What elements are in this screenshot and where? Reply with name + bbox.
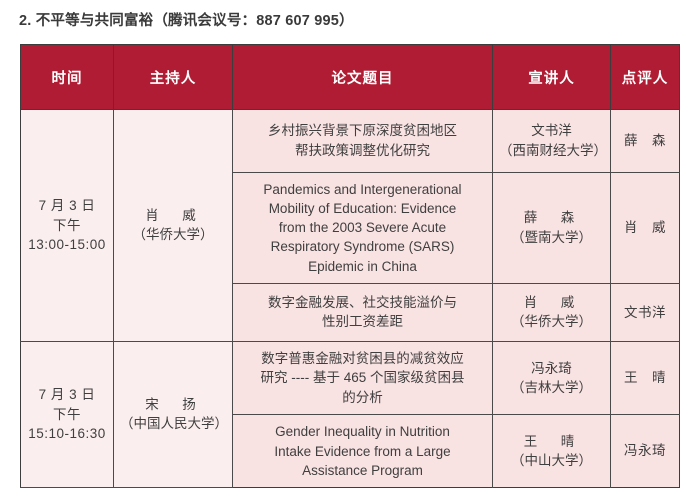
column-header-chair: 主持人 (114, 45, 233, 110)
presenter-affiliation: （西南财经大学） (499, 141, 604, 161)
presenter-affiliation: （暨南大学） (499, 228, 604, 248)
presenter-affiliation: （吉林大学） (499, 378, 604, 398)
table-header: 时间 主持人 论文题目 宣讲人 点评人 (21, 45, 680, 110)
session-period: 下午 (27, 216, 107, 236)
conference-schedule-table: 时间 主持人 论文题目 宣讲人 点评人 7 月 3 日 下午 13:00-15:… (20, 44, 680, 488)
table-row: 7 月 3 日 下午 15:10-16:30 宋 扬 （中国人民大学） 数字普惠… (21, 341, 680, 415)
session-time-range: 13:00-15:00 (27, 235, 107, 255)
presenter-cell: 薛 森 （暨南大学） (493, 173, 611, 284)
paper-title-cell: Pandemics and Intergenerational Mobility… (233, 173, 493, 284)
column-header-presenter: 宣讲人 (493, 45, 611, 110)
paper-title-line: Respiratory Syndrome (SARS) (243, 237, 482, 256)
presenter-affiliation: （中山大学） (499, 451, 604, 471)
chair-name: 肖 威 (120, 206, 226, 226)
paper-title-line: 性别工资差距 (243, 312, 482, 332)
paper-title-cell: 数字普惠金融对贫困县的减贫效应 研究 ---- 基于 465 个国家级贫困县 的… (233, 341, 493, 415)
paper-title-line: 的分析 (243, 388, 482, 408)
discussant-cell: 冯永琦 (611, 415, 680, 487)
table-body: 7 月 3 日 下午 13:00-15:00 肖 威 （华侨大学） 乡村振兴背景… (21, 110, 680, 488)
column-header-paper: 论文题目 (233, 45, 493, 110)
discussant-cell: 王 晴 (611, 341, 680, 415)
presenter-cell: 肖 威 （华侨大学） (493, 283, 611, 341)
presenter-affiliation: （华侨大学） (499, 312, 604, 332)
discussant-cell: 薛 森 (611, 110, 680, 173)
paper-title-line: 帮扶政策调整优化研究 (243, 141, 482, 161)
paper-title-line: Pandemics and Intergenerational (243, 180, 482, 199)
presenter-name: 薛 森 (499, 208, 604, 228)
paper-title-line: Gender Inequality in Nutrition (243, 422, 482, 441)
presenter-name: 冯永琦 (499, 359, 604, 379)
presenter-cell: 王 晴 （中山大学） (493, 415, 611, 487)
paper-title-cell: 数字金融发展、社交技能溢价与 性别工资差距 (233, 283, 493, 341)
table-row: 7 月 3 日 下午 13:00-15:00 肖 威 （华侨大学） 乡村振兴背景… (21, 110, 680, 173)
paper-title-line: Intake Evidence from a Large (243, 442, 482, 461)
paper-title-line: 研究 ---- 基于 465 个国家级贫困县 (243, 368, 482, 388)
session-time-cell: 7 月 3 日 下午 15:10-16:30 (21, 341, 114, 487)
session-period: 下午 (27, 405, 107, 425)
session-chair-cell: 肖 威 （华侨大学） (114, 110, 233, 342)
table-header-row: 时间 主持人 论文题目 宣讲人 点评人 (21, 45, 680, 110)
paper-title-line: 乡村振兴背景下原深度贫困地区 (243, 121, 482, 141)
paper-title-line: Mobility of Education: Evidence (243, 199, 482, 218)
presenter-name: 肖 威 (499, 293, 604, 313)
presenter-name: 王 晴 (499, 432, 604, 452)
column-header-discussant: 点评人 (611, 45, 680, 110)
discussant-cell: 文书洋 (611, 283, 680, 341)
chair-name: 宋 扬 (120, 395, 226, 415)
presenter-cell: 冯永琦 （吉林大学） (493, 341, 611, 415)
paper-title-cell: 乡村振兴背景下原深度贫困地区 帮扶政策调整优化研究 (233, 110, 493, 173)
presenter-cell: 文书洋 （西南财经大学） (493, 110, 611, 173)
session-time-cell: 7 月 3 日 下午 13:00-15:00 (21, 110, 114, 342)
paper-title-line: from the 2003 Severe Acute (243, 218, 482, 237)
session-date: 7 月 3 日 (27, 385, 107, 405)
chair-affiliation: （华侨大学） (120, 225, 226, 245)
paper-title-line: 数字普惠金融对贫困县的减贫效应 (243, 349, 482, 369)
schedule-page: 2. 不平等与共同富裕（腾讯会议号：887 607 995） 时间 主持人 论文… (0, 0, 699, 494)
paper-title-cell: Gender Inequality in Nutrition Intake Ev… (233, 415, 493, 487)
paper-title-line: 数字金融发展、社交技能溢价与 (243, 293, 482, 313)
chair-affiliation: （中国人民大学） (120, 414, 226, 434)
session-date: 7 月 3 日 (27, 196, 107, 216)
session-chair-cell: 宋 扬 （中国人民大学） (114, 341, 233, 487)
paper-title-line: Epidemic in China (243, 257, 482, 276)
paper-title-line: Assistance Program (243, 461, 482, 480)
column-header-time: 时间 (21, 45, 114, 110)
presenter-name: 文书洋 (499, 121, 604, 141)
page-title: 2. 不平等与共同富裕（腾讯会议号：887 607 995） (19, 9, 354, 30)
session-time-range: 15:10-16:30 (27, 424, 107, 444)
discussant-cell: 肖 威 (611, 173, 680, 284)
